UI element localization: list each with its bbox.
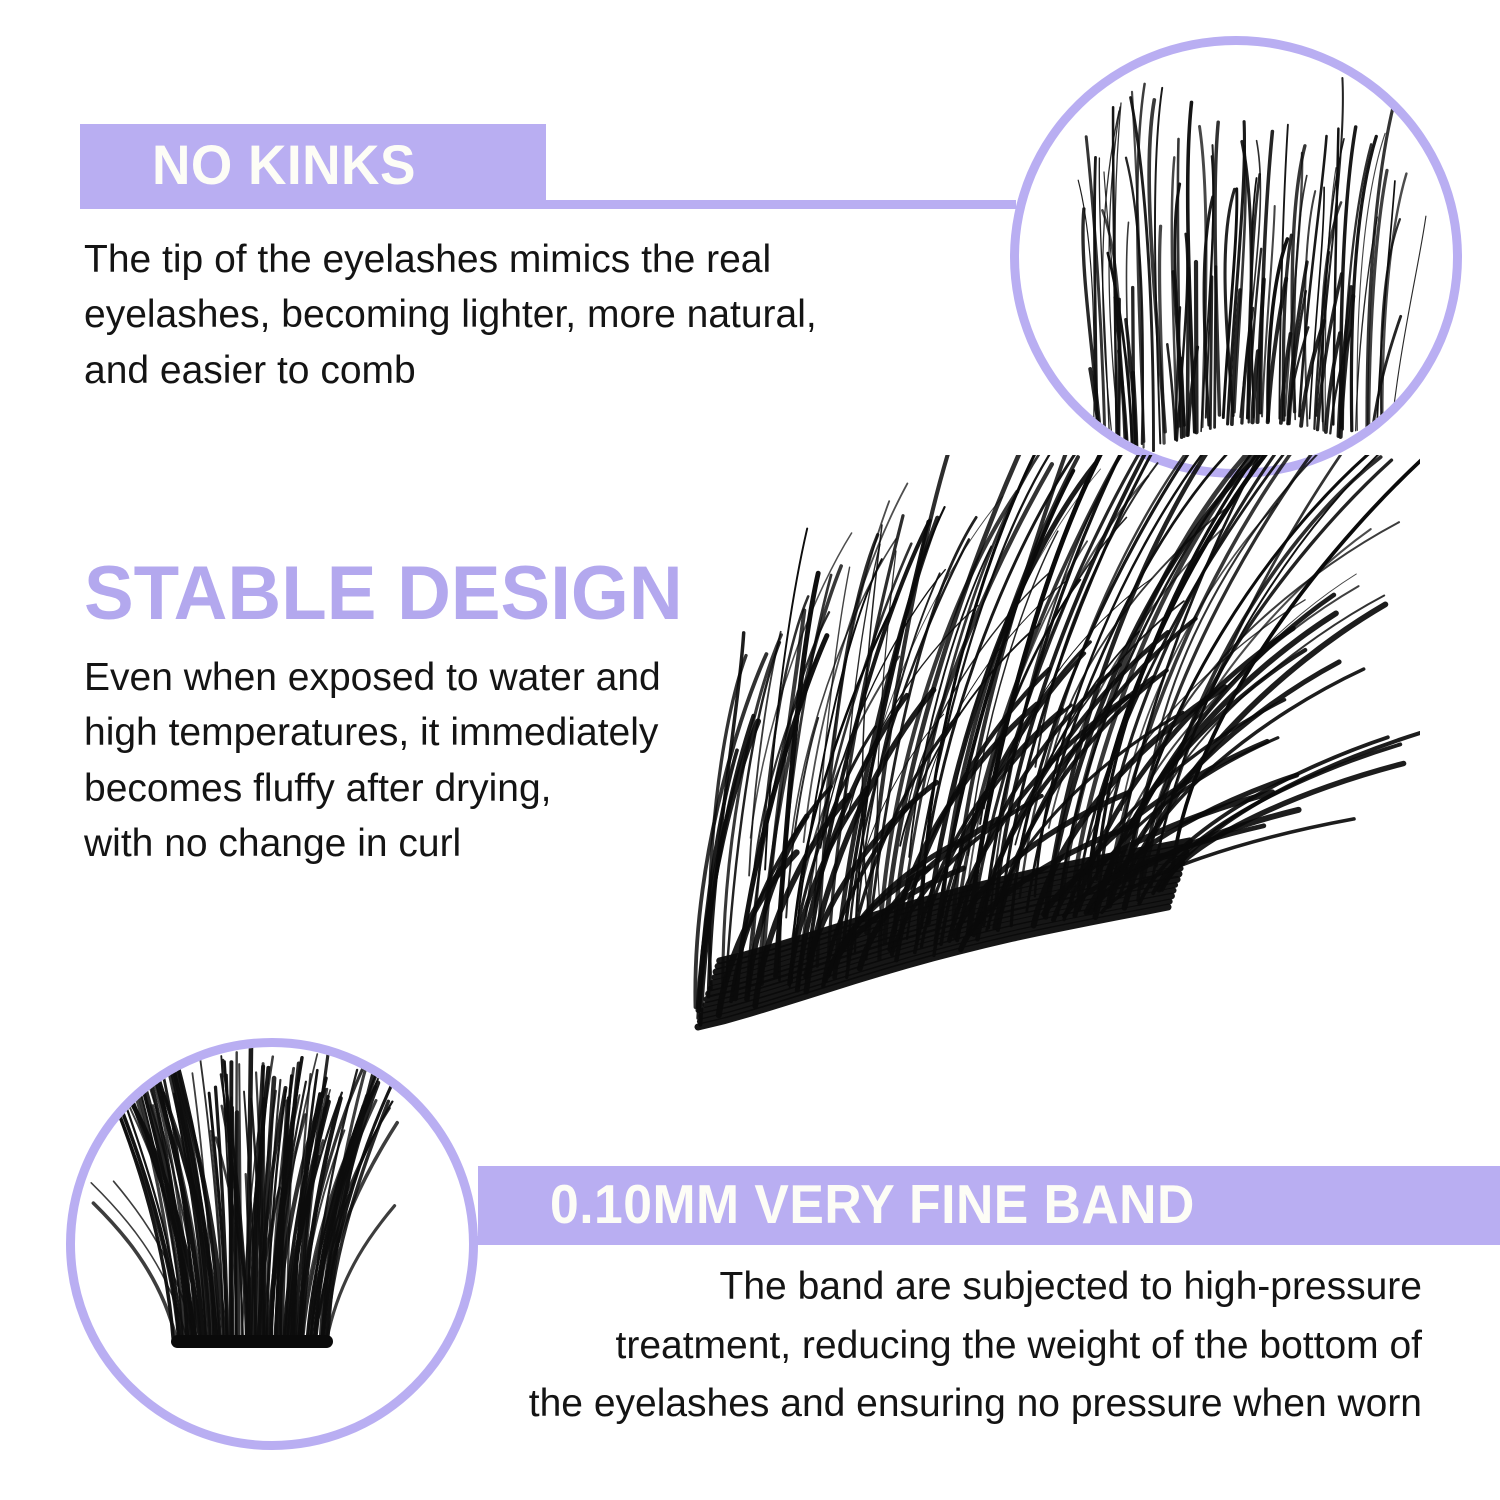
lash-tips-image xyxy=(1019,45,1453,469)
heading-banner-no-kinks: NO KINKS xyxy=(80,124,546,206)
heading-stable-design: STABLE DESIGN xyxy=(84,556,683,632)
heading-banner-fine-band: 0.10MM VERY FINE BAND xyxy=(478,1166,1500,1242)
callout-circle-lash-tips xyxy=(1010,36,1462,478)
body-text-no-kinks: The tip of the eyelashes mimics the real… xyxy=(84,232,944,398)
callout-circle-band-base xyxy=(66,1038,478,1450)
lash-band-base-image xyxy=(75,1047,469,1441)
infographic-page: NO KINKS The tip of the eyelashes mimics… xyxy=(0,0,1500,1500)
body-text-fine-band: The band are subjected to high-pressure … xyxy=(420,1258,1422,1434)
main-lash-strip-image xyxy=(620,455,1420,1115)
heading-fine-band-label: 0.10MM VERY FINE BAND xyxy=(550,1177,1195,1232)
heading-no-kinks-label: NO KINKS xyxy=(152,137,416,193)
